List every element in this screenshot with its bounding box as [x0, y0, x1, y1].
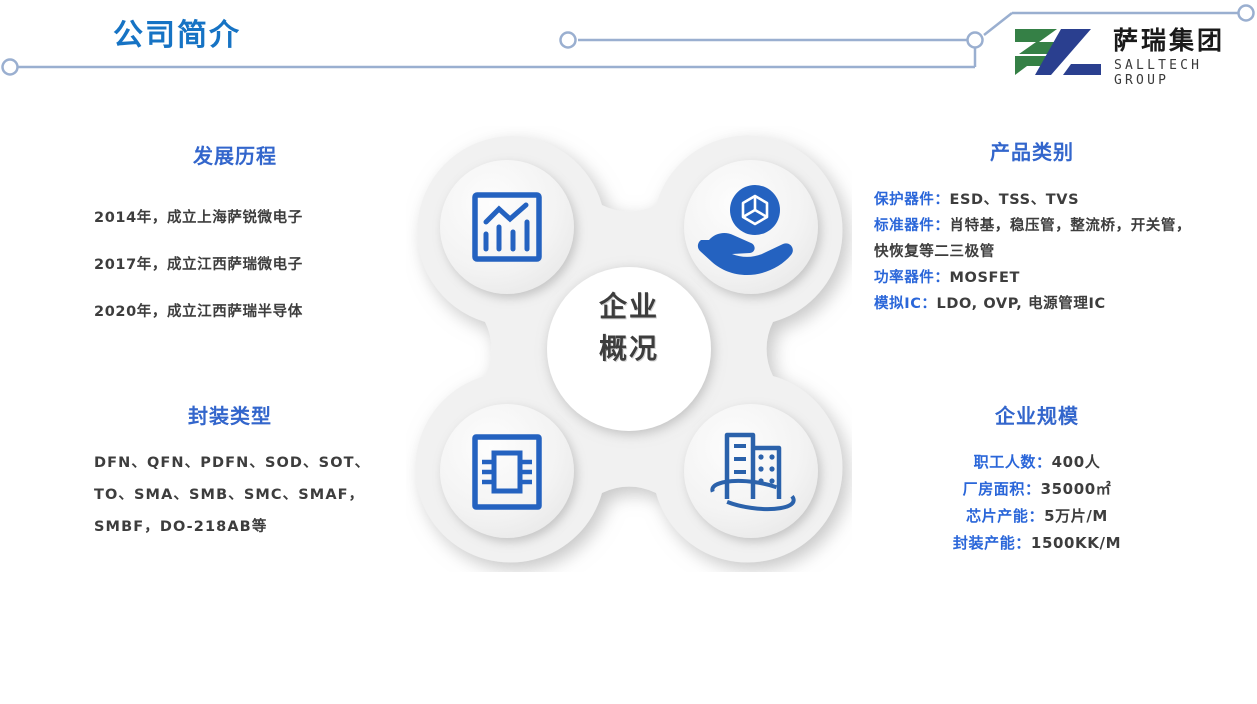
page-title: 公司简介 — [113, 10, 241, 54]
deco-circle-mid — [561, 33, 576, 48]
product-value: MOSFET — [950, 270, 1021, 286]
product-row: 模拟IC：LDO, OVP, 电源管理IC — [874, 291, 1202, 317]
scale-value: 5万片/M — [1044, 507, 1108, 525]
product-label: 标准器件： — [874, 218, 950, 234]
center-label-line1: 企业 — [569, 286, 689, 328]
scale-row: 封装产能：1500KK/M — [872, 530, 1202, 557]
scale-label: 厂房面积： — [963, 480, 1041, 498]
center-diagram: 企业 概况 — [406, 126, 852, 572]
product-value: LDO, OVP, 电源管理IC — [937, 296, 1106, 312]
logo-name-cn: 萨瑞集团 — [1113, 27, 1225, 55]
company-logo: 萨瑞集团 SALLTECH GROUP — [1013, 26, 1245, 78]
section-package-title: 封装类型 — [70, 400, 390, 429]
scale-label: 职工人数： — [974, 453, 1052, 471]
section-scale: 企业规模 职工人数：400人 厂房面积：35000㎡ 芯片产能：5万片/M 封装… — [872, 400, 1202, 557]
node-circle-bottom-left — [440, 404, 574, 538]
section-products: 产品类别 保护器件：ESD、TSS、TVS 标准器件：肖特基，稳压管，整流桥，开… — [862, 136, 1202, 317]
center-label-line2: 概况 — [569, 328, 689, 370]
scale-row: 芯片产能：5万片/M — [872, 503, 1202, 530]
section-products-title: 产品类别 — [862, 136, 1202, 165]
product-label: 模拟IC： — [874, 296, 937, 312]
deco-circle-right — [1239, 6, 1254, 21]
deco-circle-left — [3, 60, 18, 75]
product-label: 保护器件： — [874, 192, 950, 208]
logo-mark-icon — [1013, 26, 1103, 78]
section-scale-title: 企业规模 — [872, 400, 1202, 429]
scale-value: 400人 — [1052, 453, 1101, 471]
product-row: 标准器件：肖特基，稳压管，整流桥，开关管，快恢复等二三极管 — [874, 213, 1202, 265]
scale-label: 封装产能： — [953, 534, 1031, 552]
node-circle-top-left — [440, 160, 574, 294]
product-row: 功率器件：MOSFET — [874, 265, 1202, 291]
product-row: 保护器件：ESD、TSS、TVS — [874, 187, 1202, 213]
scale-row: 职工人数：400人 — [872, 449, 1202, 476]
scale-label: 芯片产能： — [966, 507, 1044, 525]
product-label: 功率器件： — [874, 270, 950, 286]
history-item: 2017年，成立江西萨瑞微电子 — [94, 240, 400, 287]
logo-name-en: SALLTECH GROUP — [1114, 58, 1245, 88]
slide-root: 公司简介 萨瑞集团 SALLTECH GROUP 发展历程 2014年，成立上海… — [0, 0, 1257, 704]
center-label: 企业 概况 — [569, 286, 689, 370]
package-type-text: DFN、QFN、PDFN、SOD、SOT、TO、SMA、SMB、SMC、SMAF… — [94, 447, 390, 543]
scale-value: 1500KK/M — [1031, 534, 1121, 552]
scale-value: 35000㎡ — [1041, 480, 1112, 498]
section-history-title: 发展历程 — [70, 140, 400, 169]
product-value: ESD、TSS、TVS — [950, 192, 1080, 208]
section-history: 发展历程 2014年，成立上海萨锐微电子 2017年，成立江西萨瑞微电子 202… — [70, 140, 400, 334]
section-package: 封装类型 DFN、QFN、PDFN、SOD、SOT、TO、SMA、SMB、SMC… — [70, 400, 390, 543]
scale-row: 厂房面积：35000㎡ — [872, 476, 1202, 503]
slide-header: 公司简介 萨瑞集团 SALLTECH GROUP — [0, 0, 1257, 100]
deco-circle-junction — [968, 33, 983, 48]
history-item: 2020年，成立江西萨瑞半导体 — [94, 287, 400, 334]
history-item: 2014年，成立上海萨锐微电子 — [94, 193, 400, 240]
